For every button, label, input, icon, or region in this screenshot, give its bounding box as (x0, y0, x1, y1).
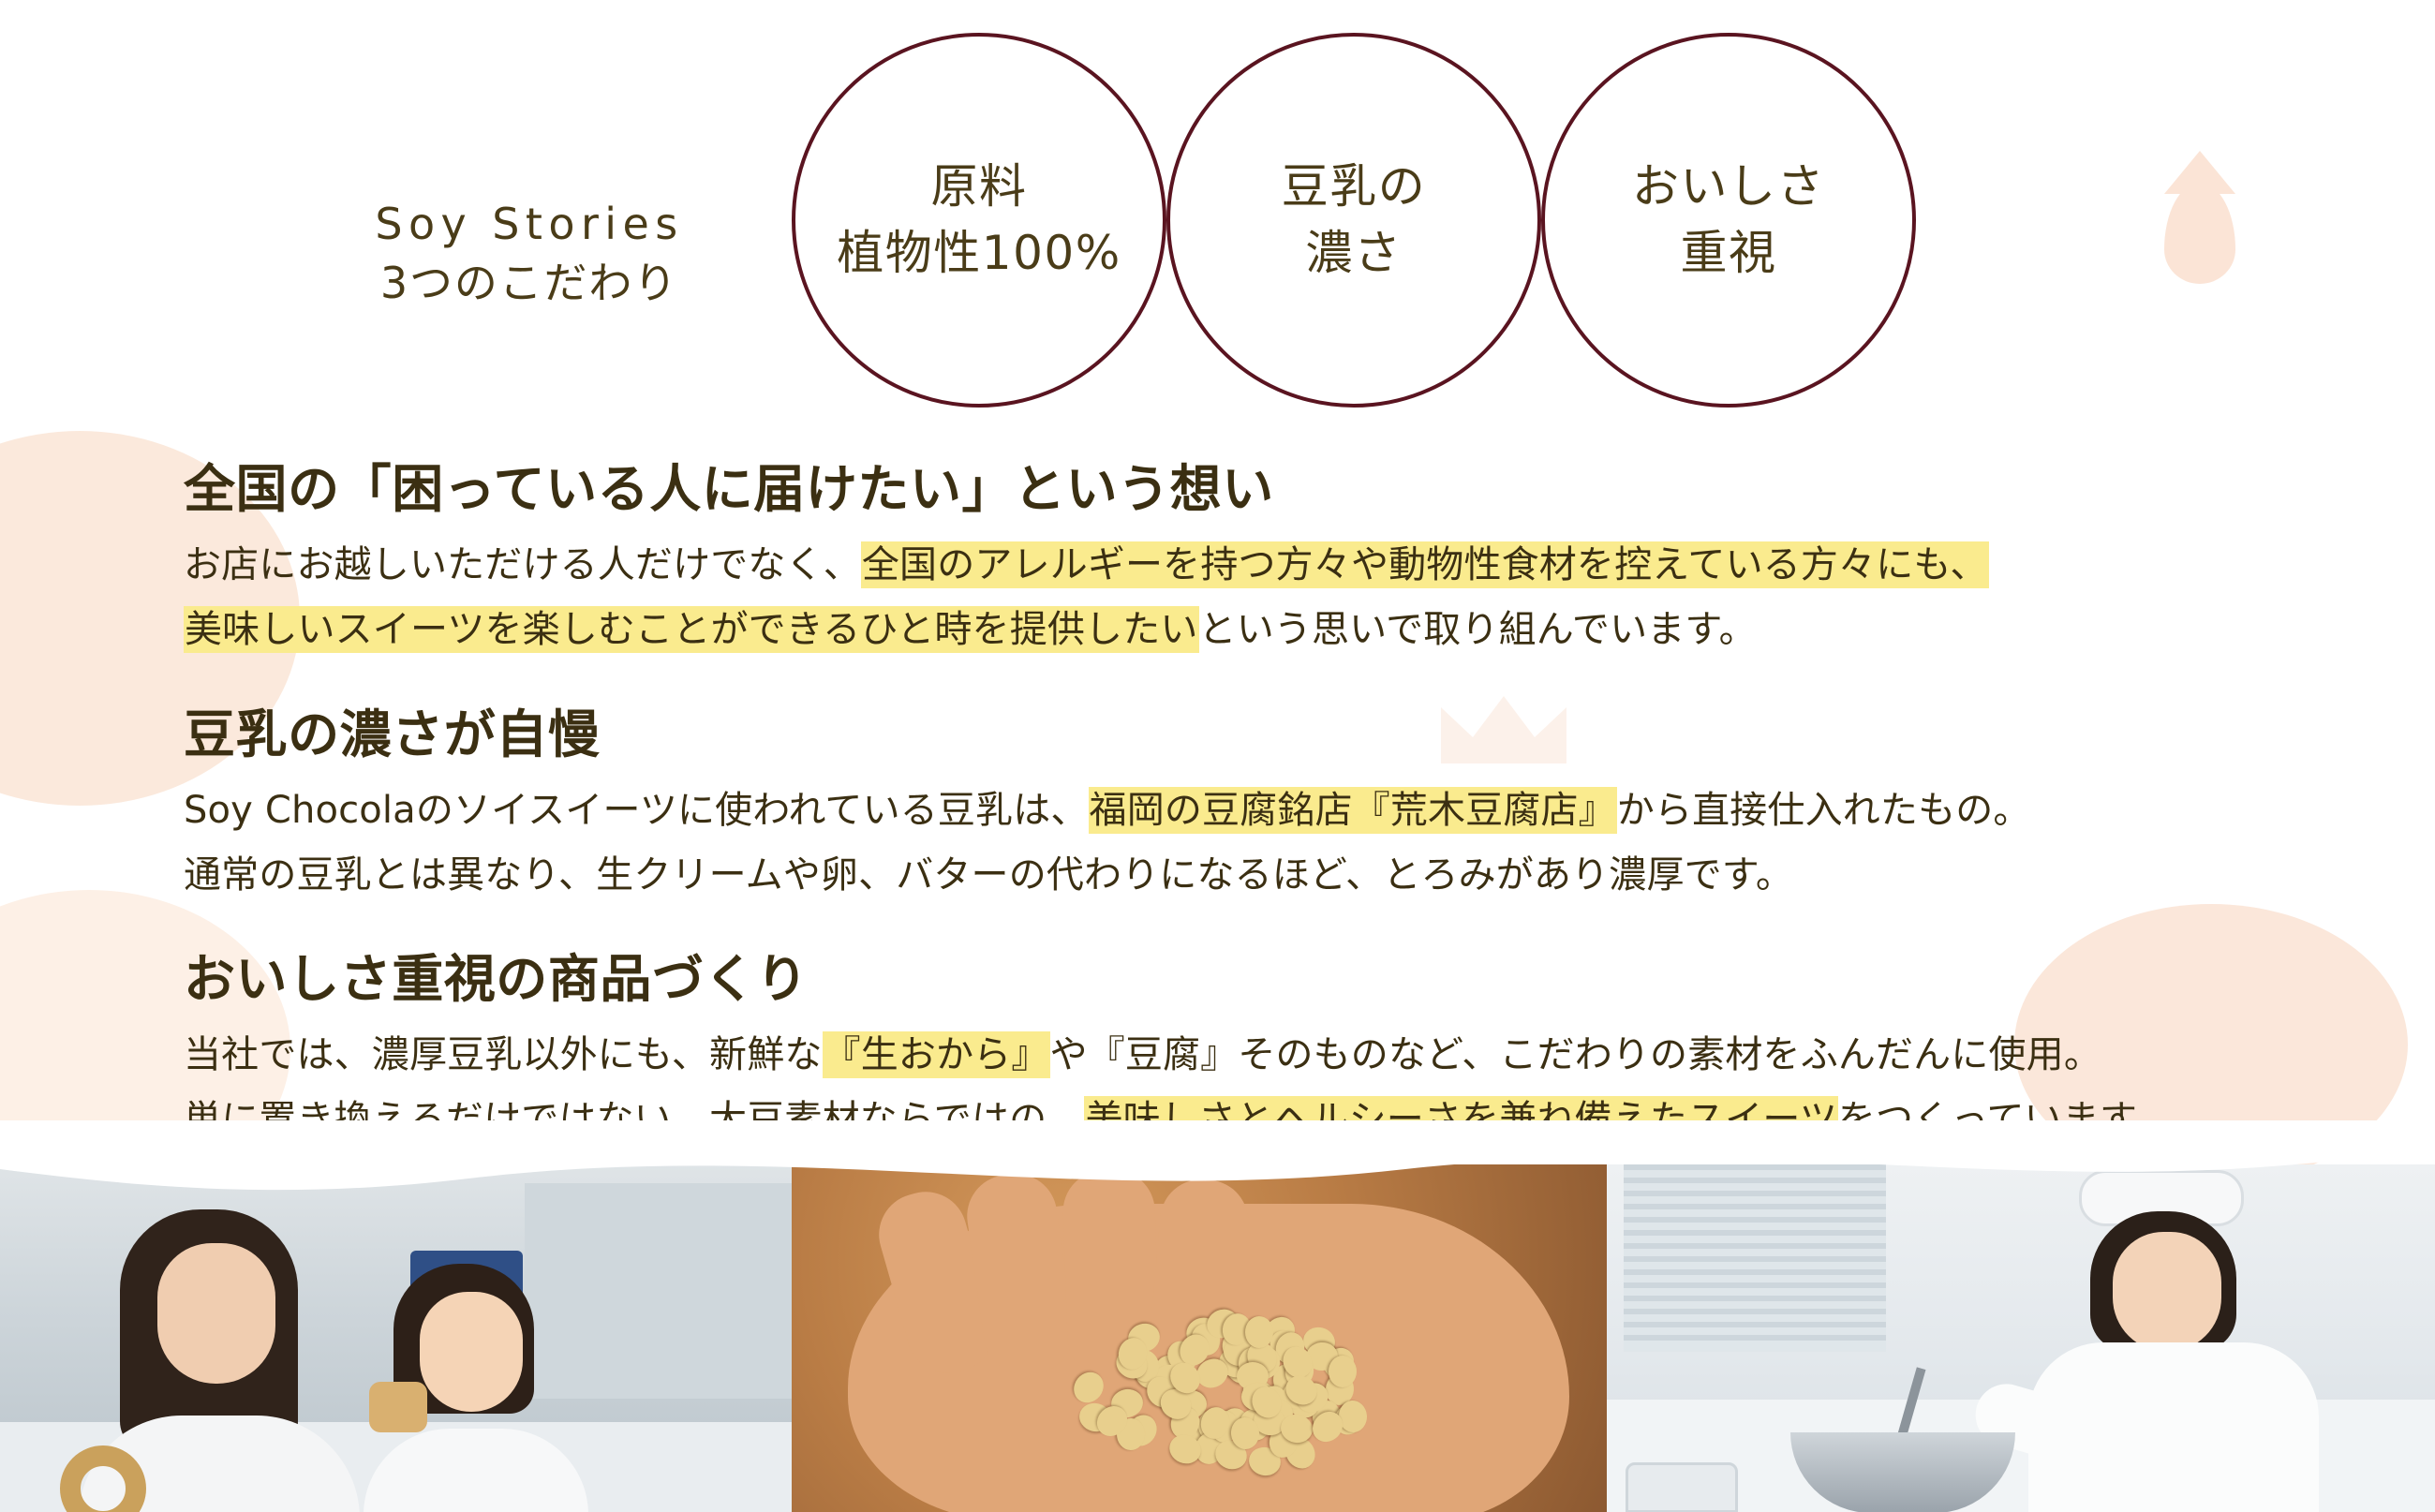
header: Soy Stories 3つのこだわり 原料 植物性100% 豆乳の 濃さ おい… (0, 0, 2435, 440)
brand-label-jp: 3つのこだわり (333, 254, 726, 313)
brand-label: Soy Stories 3つのこだわり (333, 195, 726, 314)
feature-circle-taste-line2: 重視 (1681, 220, 1777, 287)
text-post: から直接仕入れたもの。 (1617, 789, 2031, 832)
section-nationwide-line-1: お店にお越しいただける人だけでなく、全国のアレルギーを持つ方々や動物性食材を控え… (184, 533, 2435, 598)
brand-label-en: Soy Stories (333, 195, 726, 254)
text-highlight: 全国のアレルギーを持つ方々や動物性食材を控えている方々にも、 (861, 541, 1989, 588)
feature-circle-soymilk: 豆乳の 濃さ (1166, 33, 1541, 408)
section-taste-line-2: 単に置き換えるだけではない、大豆素材ならではの、美味しさとヘルシーさを兼ね備えた… (184, 1088, 2435, 1152)
section-taste-line-1: 当社では、濃厚豆乳以外にも、新鮮な『生おから』や『豆腐』そのものなど、こだわりの… (184, 1023, 2435, 1088)
photo-mother-and-child (0, 1164, 792, 1512)
section-nationwide-line-2: 美味しいスイーツを楽しむことができるひと時を提供したいという思いで取り組んでいま… (184, 598, 2435, 662)
feature-circle-soymilk-line2: 濃さ (1306, 220, 1403, 287)
section-nationwide: 全国の「困っている人に届けたい」という想い お店にお越しいただける人だけでなく、… (184, 459, 2435, 661)
text-post: という思いで取り組んでいます。 (1199, 608, 1757, 651)
text-pre: Soy Chocolaのソイスイーツに使われている豆乳は、 (184, 789, 1089, 832)
feature-circle-ingredient-line2: 植物性100% (837, 220, 1121, 287)
feature-circle-ingredient: 原料 植物性100% (792, 33, 1166, 408)
section-taste: おいしさ重視の商品づくり 当社では、濃厚豆乳以外にも、新鮮な『生おから』や『豆腐… (184, 949, 2435, 1151)
photo-strip (0, 1164, 2435, 1512)
feature-circle-soymilk-line1: 豆乳の (1282, 154, 1427, 220)
feature-circle-group: 原料 植物性100% 豆乳の 濃さ おいしさ 重視 (792, 28, 1963, 422)
text-pre: 単に置き換えるだけではない、大豆素材ならではの、 (184, 1098, 1084, 1141)
text-highlight: 『生おから』 (823, 1031, 1050, 1078)
section-nationwide-title: 全国の「困っている人に届けたい」という想い (184, 459, 2435, 520)
feature-circle-ingredient-line1: 原料 (931, 154, 1028, 220)
text-pre: お店にお越しいただける人だけでなく、 (184, 543, 861, 586)
text-pre: 通常の豆乳とは異なり、生クリームや卵、バターの代わりになるほど、とろみがあり濃厚… (184, 853, 1793, 897)
text-pre: 当社では、濃厚豆乳以外にも、新鮮な (184, 1033, 823, 1076)
text-highlight: 福岡の豆腐銘店『荒木豆腐店』 (1089, 787, 1617, 834)
section-soymilk: 豆乳の濃さが自慢 Soy Chocolaのソイスイーツに使われている豆乳は、福岡… (184, 704, 2435, 907)
content-sections: 全国の「困っている人に届けたい」という想い お店にお越しいただける人だけでなく、… (0, 459, 2435, 1151)
feature-circle-taste-line1: おいしさ (1632, 154, 1825, 220)
photo-chef-whisking (1607, 1164, 2435, 1512)
photo-soybeans-in-hand (792, 1164, 1607, 1512)
section-soymilk-line-2: 通常の豆乳とは異なり、生クリームや卵、バターの代わりになるほど、とろみがあり濃厚… (184, 843, 2435, 908)
section-taste-title: おいしさ重視の商品づくり (184, 949, 2435, 1010)
section-soymilk-line-1: Soy Chocolaのソイスイーツに使われている豆乳は、福岡の豆腐銘店『荒木豆… (184, 778, 2435, 843)
text-highlight: 美味しいスイーツを楽しむことができるひと時を提供したい (184, 606, 1199, 653)
feature-circle-taste: おいしさ 重視 (1541, 33, 1916, 408)
text-highlight: 美味しさとヘルシーさを兼ね備えたスイーツ (1084, 1096, 1837, 1143)
section-soymilk-title: 豆乳の濃さが自慢 (184, 704, 2435, 765)
text-post: をつくっています。 (1838, 1098, 2171, 1141)
text-post: や『豆腐』そのものなど、こだわりの素材をふんだんに使用。 (1050, 1033, 2101, 1076)
